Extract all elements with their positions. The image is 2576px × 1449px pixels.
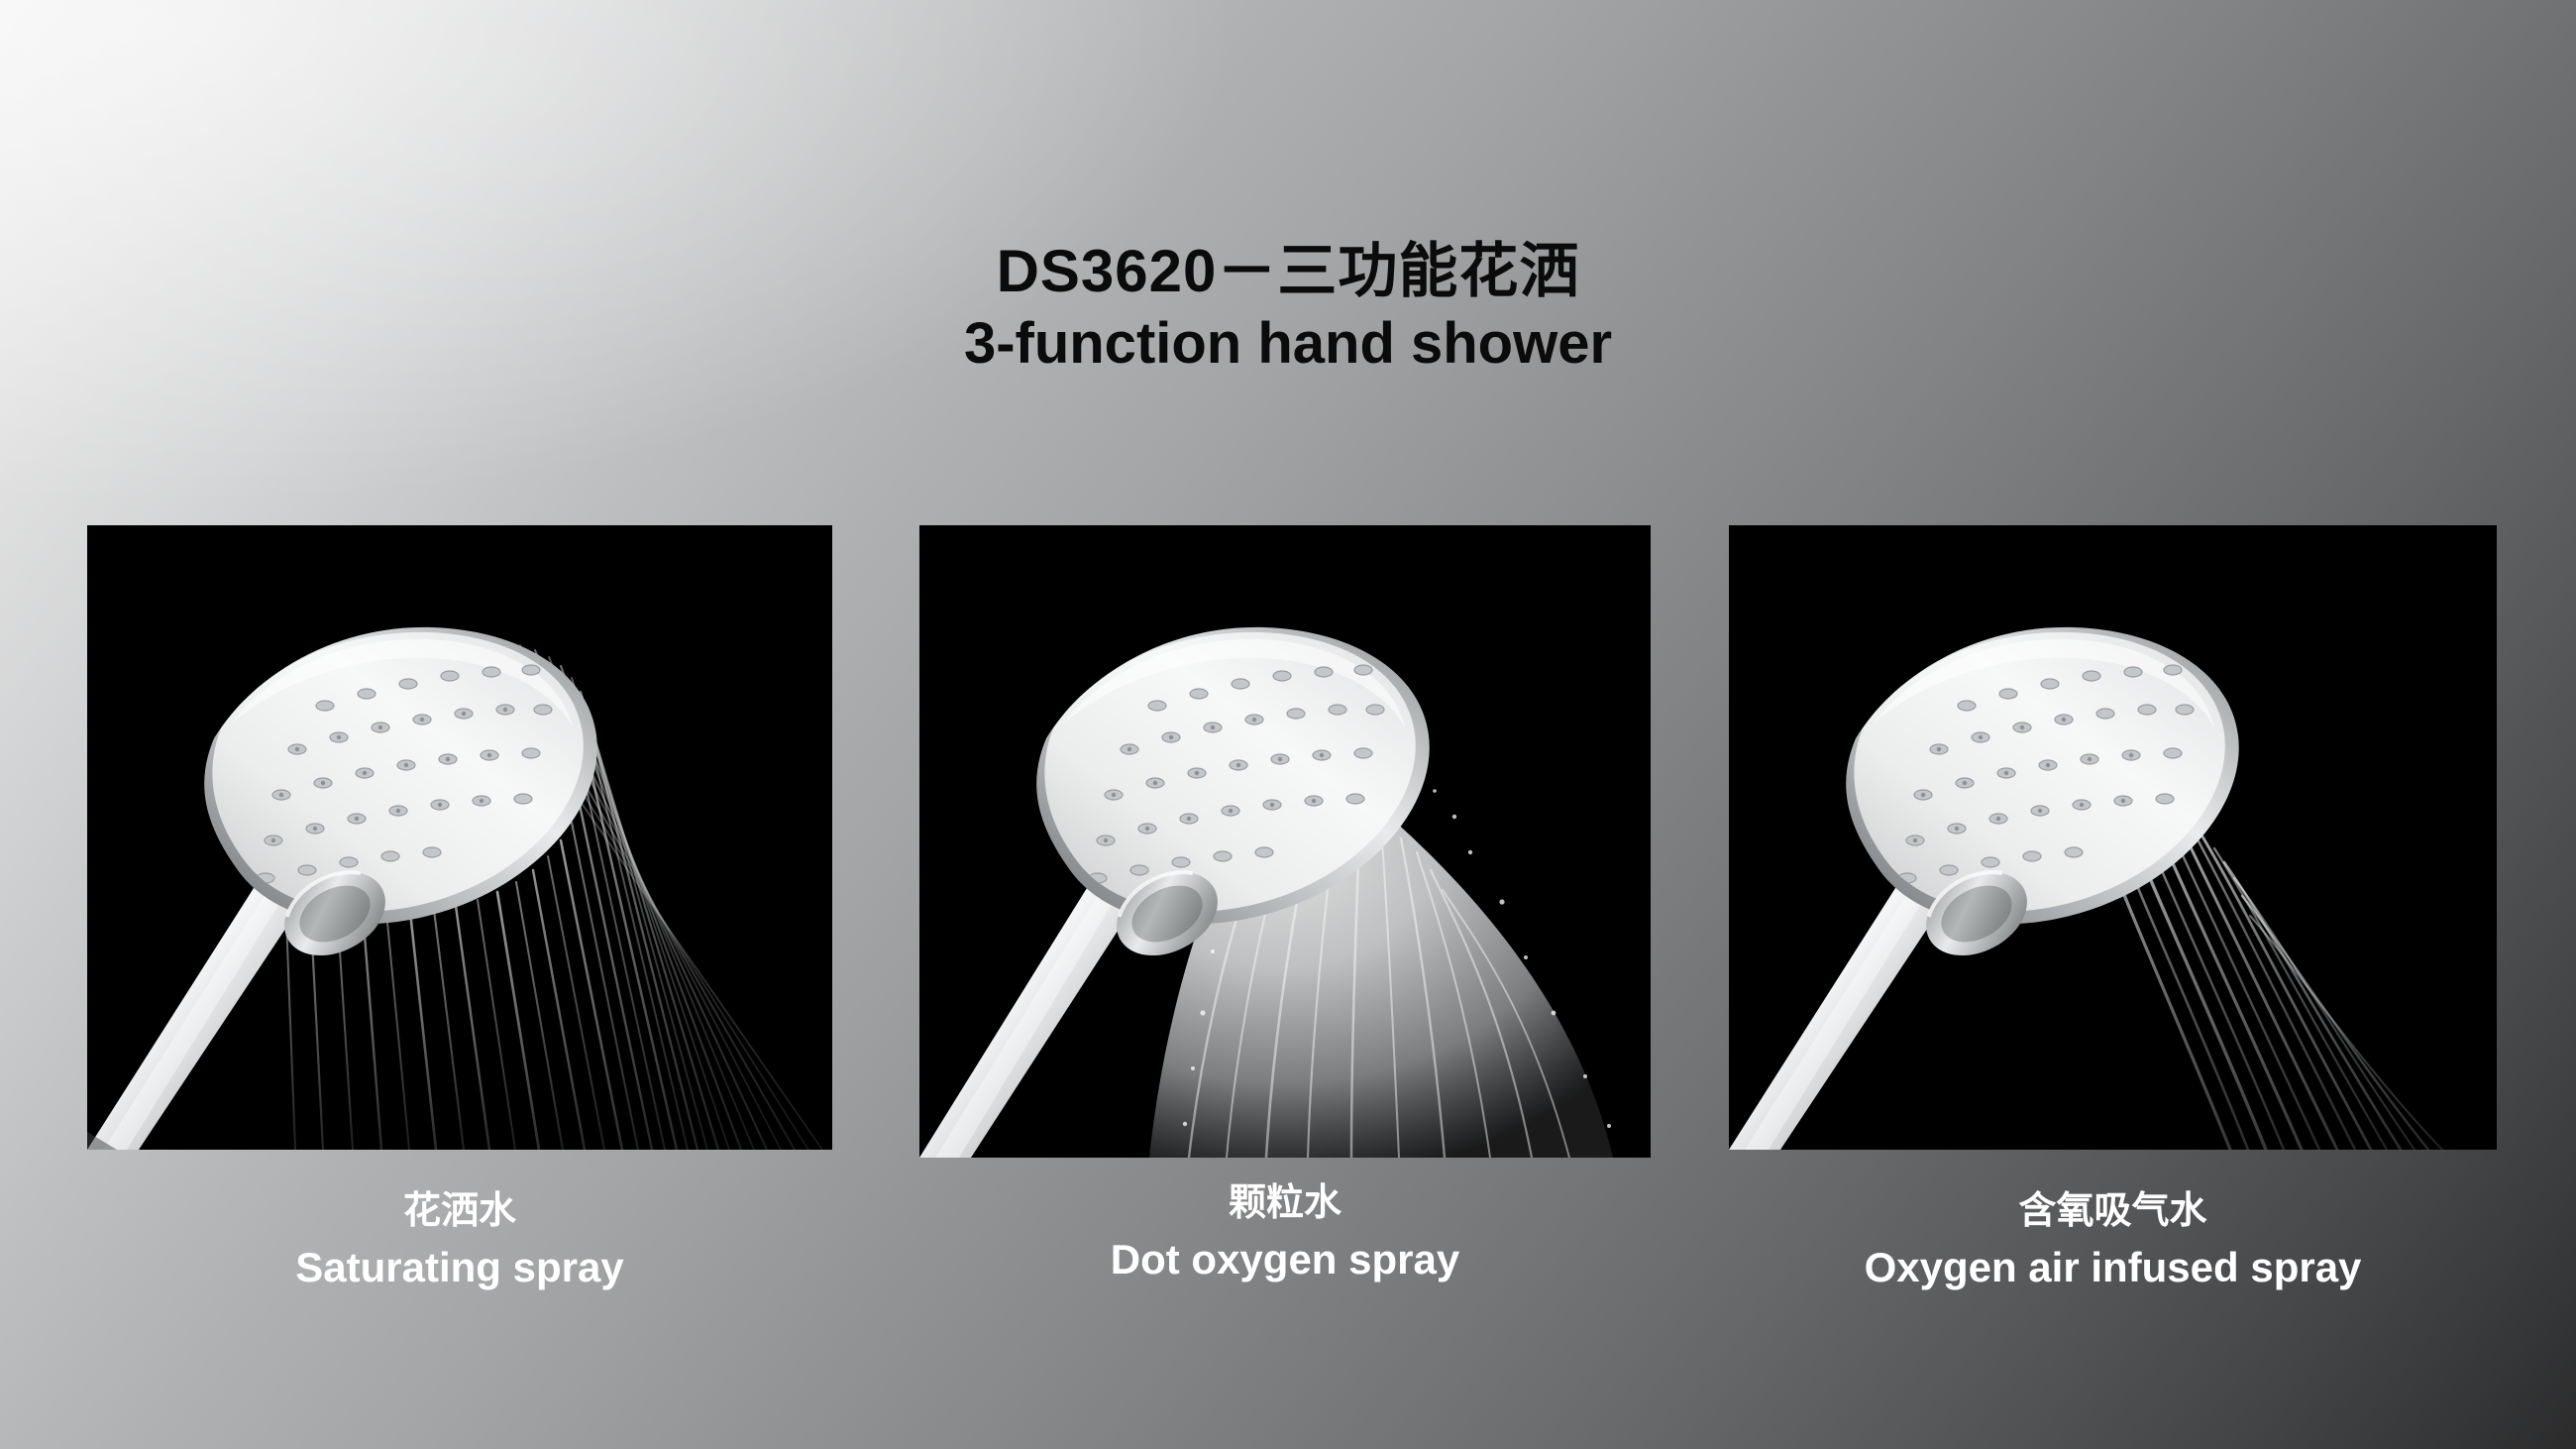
caption-dot-oxygen-spray: 颗粒水 Dot oxygen spray xyxy=(860,1171,1710,1283)
shower-head-illustration-1 xyxy=(87,525,832,1150)
product-photo-saturating-spray xyxy=(87,525,832,1150)
caption-oxygen-air-infused-spray: 含氧吸气水 Oxygen air infused spray xyxy=(1669,1179,2556,1291)
product-panel-saturating-spray: 花洒水 Saturating spray xyxy=(87,525,832,1150)
caption-english-1: Saturating spray xyxy=(28,1244,892,1291)
caption-english-3: Oxygen air infused spray xyxy=(1669,1244,2556,1291)
caption-saturating-spray: 花洒水 Saturating spray xyxy=(28,1179,892,1291)
caption-chinese-2: 颗粒水 xyxy=(860,1171,1710,1226)
product-panel-dot-oxygen-spray: 颗粒水 Dot oxygen spray xyxy=(919,525,1651,1158)
product-showcase-page: DS3620－三功能花洒 3-function hand shower xyxy=(0,0,2576,1449)
caption-chinese-1: 花洒水 xyxy=(28,1179,892,1234)
product-photo-oxygen-air-infused-spray xyxy=(1729,525,2497,1150)
product-photo-dot-oxygen-spray xyxy=(919,525,1651,1158)
product-panel-row: 花洒水 Saturating spray xyxy=(0,0,2576,1449)
shower-head-illustration-3 xyxy=(1729,525,2497,1150)
product-panel-oxygen-air-infused-spray: 含氧吸气水 Oxygen air infused spray xyxy=(1729,525,2497,1150)
caption-english-2: Dot oxygen spray xyxy=(860,1236,1710,1283)
shower-head-illustration-2 xyxy=(919,525,1651,1158)
caption-chinese-3: 含氧吸气水 xyxy=(1669,1179,2556,1234)
